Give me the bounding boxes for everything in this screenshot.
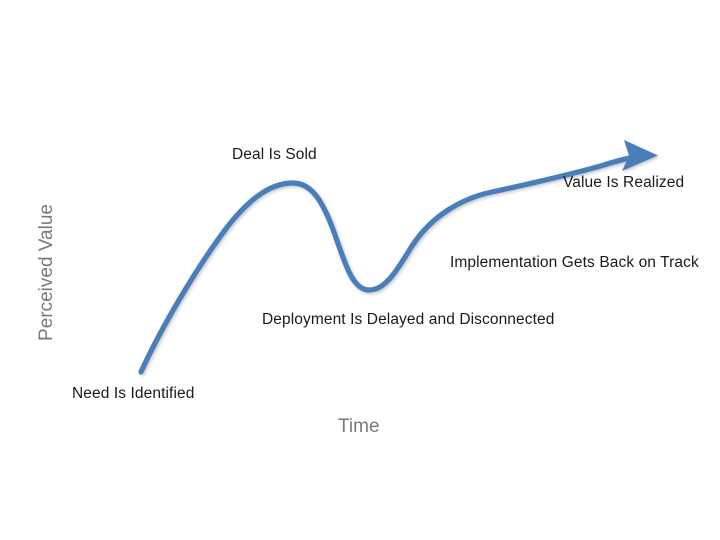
annotation-deal-is-sold: Deal Is Sold <box>232 147 317 163</box>
x-axis-title: Time <box>338 417 380 436</box>
curve-arrow-icon <box>622 140 658 171</box>
y-axis-title: Perceived Value <box>37 204 56 341</box>
annotation-implementation-back-on-track: Implementation Gets Back on Track <box>450 255 699 271</box>
annotation-need-is-identified: Need Is Identified <box>72 386 194 402</box>
annotation-deployment-delayed: Deployment Is Delayed and Disconnected <box>262 312 554 328</box>
annotation-value-is-realized: Value Is Realized <box>563 175 684 191</box>
chart-canvas: Time Perceived Value Need Is Identified … <box>0 0 720 540</box>
